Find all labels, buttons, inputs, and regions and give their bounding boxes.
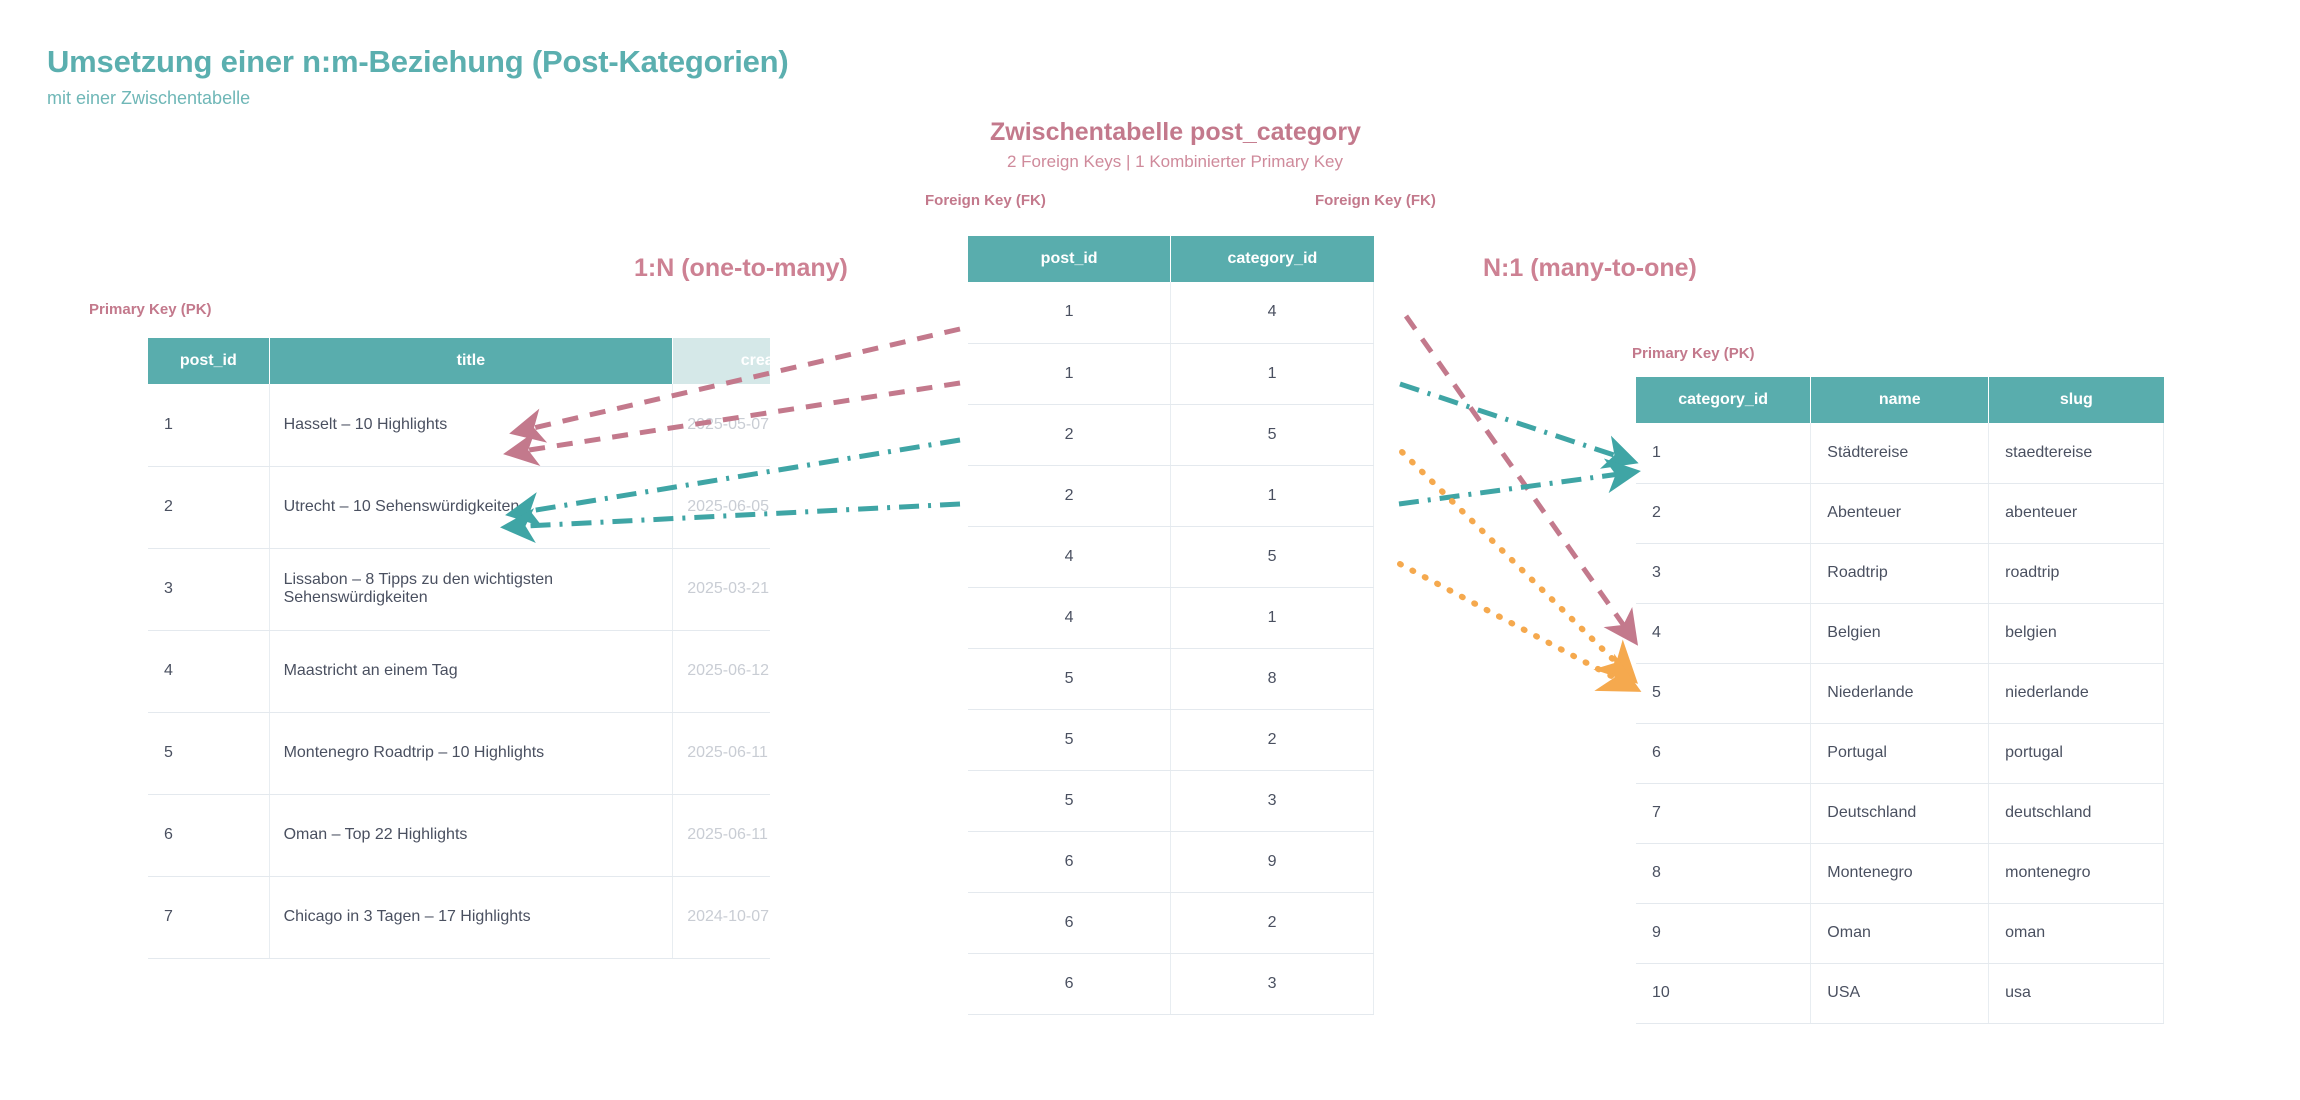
cell-title: Chicago in 3 Tagen – 17 Highlights bbox=[269, 876, 673, 958]
cell-post-id: 6 bbox=[968, 953, 1171, 1014]
cell-name: Städtereise bbox=[1811, 423, 1989, 483]
cell-category-id: 8 bbox=[1171, 648, 1374, 709]
junction-table-subtitle: 2 Foreign Keys | 1 Kombinierter Primary … bbox=[960, 152, 1390, 172]
table-row: 6Oman – Top 22 Highlights2025-06-11 09:0… bbox=[148, 794, 770, 876]
foreign-key-label-category-id: Foreign Key (FK) bbox=[1315, 192, 1436, 209]
cell-category-id: 1 bbox=[1636, 423, 1811, 483]
table-row: 6Portugalportugal bbox=[1636, 723, 2164, 783]
table-header-row: category_id name slug bbox=[1636, 377, 2164, 423]
cell-created-at: 2025-05-07 10:15:00 bbox=[673, 384, 770, 466]
posts-table: post_id title created_at author_id 1Hass… bbox=[148, 338, 770, 959]
cell-post-id: 1 bbox=[148, 384, 269, 466]
cell-category-id: 10 bbox=[1636, 963, 1811, 1023]
table-row: 8Montenegromontenegro bbox=[1636, 843, 2164, 903]
cell-category-id: 5 bbox=[1171, 526, 1374, 587]
cell-category-id: 9 bbox=[1636, 903, 1811, 963]
cell-slug: usa bbox=[1989, 963, 2164, 1023]
cell-name: Oman bbox=[1811, 903, 1989, 963]
cell-category-id: 8 bbox=[1636, 843, 1811, 903]
cell-category-id: 4 bbox=[1171, 282, 1374, 343]
cell-title: Lissabon – 8 Tipps zu den wichtigsten Se… bbox=[269, 548, 673, 630]
cell-category-id: 3 bbox=[1171, 953, 1374, 1014]
table-row: 53 bbox=[968, 770, 1374, 831]
cell-category-id: 9 bbox=[1171, 831, 1374, 892]
table-row: 5Niederlandeniederlande bbox=[1636, 663, 2164, 723]
table-row: 45 bbox=[968, 526, 1374, 587]
cell-slug: montenegro bbox=[1989, 843, 2164, 903]
cell-post-id: 4 bbox=[968, 526, 1171, 587]
table-row: 2Utrecht – 10 Sehenswürdigkeiten2025-06-… bbox=[148, 466, 770, 548]
cell-slug: belgien bbox=[1989, 603, 2164, 663]
table-row: 1Städtereisestaedtereise bbox=[1636, 423, 2164, 483]
cell-category-id: 5 bbox=[1171, 404, 1374, 465]
cell-name: Deutschland bbox=[1811, 783, 1989, 843]
cell-category-id: 5 bbox=[1636, 663, 1811, 723]
cell-category-id: 3 bbox=[1636, 543, 1811, 603]
cell-title: Hasselt – 10 Highlights bbox=[269, 384, 673, 466]
cell-post-id: 5 bbox=[968, 648, 1171, 709]
cell-post-id: 2 bbox=[968, 465, 1171, 526]
relationship-arrow-cats-5-b bbox=[1400, 564, 1634, 688]
table-row: 69 bbox=[968, 831, 1374, 892]
column-header-created-at: created_at bbox=[673, 338, 770, 384]
cell-created-at: 2024-10-07 07:50:00 bbox=[673, 876, 770, 958]
cell-name: Belgien bbox=[1811, 603, 1989, 663]
table-row: 41 bbox=[968, 587, 1374, 648]
table-row: 63 bbox=[968, 953, 1374, 1014]
junction-table-title: Zwischentabelle post_category bbox=[990, 118, 1360, 147]
cell-post-id: 4 bbox=[148, 630, 269, 712]
relationship-label-one-to-many: 1:N (one-to-many) bbox=[634, 254, 848, 283]
cell-post-id: 1 bbox=[968, 343, 1171, 404]
cell-post-id: 1 bbox=[968, 282, 1171, 343]
relationship-arrow-cats-1-a bbox=[1400, 384, 1632, 461]
table-row: 21 bbox=[968, 465, 1374, 526]
table-row: 7Chicago in 3 Tagen – 17 Highlights2024-… bbox=[148, 876, 770, 958]
cell-slug: staedtereise bbox=[1989, 423, 2164, 483]
cell-title: Maastricht an einem Tag bbox=[269, 630, 673, 712]
cell-created-at: 2025-06-12 11:05:00 bbox=[673, 630, 770, 712]
table-row: 3Roadtriproadtrip bbox=[1636, 543, 2164, 603]
cell-post-id: 6 bbox=[148, 794, 269, 876]
table-row: 11 bbox=[968, 343, 1374, 404]
table-row: 58 bbox=[968, 648, 1374, 709]
table-row: 9Omanoman bbox=[1636, 903, 2164, 963]
diagram-canvas: Umsetzung einer n:m-Beziehung (Post-Kate… bbox=[0, 0, 2300, 1100]
table-row: 1Hasselt – 10 Highlights2025-05-07 10:15… bbox=[148, 384, 770, 466]
table-header-row: post_id title created_at author_id bbox=[148, 338, 770, 384]
primary-key-label-posts: Primary Key (PK) bbox=[89, 301, 212, 318]
page-title: Umsetzung einer n:m-Beziehung (Post-Kate… bbox=[47, 44, 789, 80]
table-row: 52 bbox=[968, 709, 1374, 770]
column-header-post-id: post_id bbox=[968, 236, 1171, 282]
categories-table: category_id name slug 1Städtereisestaedt… bbox=[1636, 377, 2164, 1024]
cell-created-at: 2025-06-11 09:00:00 bbox=[673, 794, 770, 876]
cell-category-id: 1 bbox=[1171, 465, 1374, 526]
cell-slug: roadtrip bbox=[1989, 543, 2164, 603]
table-header-row: post_id category_id bbox=[968, 236, 1374, 282]
column-header-post-id: post_id bbox=[148, 338, 269, 384]
cell-category-id: 7 bbox=[1636, 783, 1811, 843]
cell-name: Montenegro bbox=[1811, 843, 1989, 903]
cell-category-id: 1 bbox=[1171, 343, 1374, 404]
cell-name: USA bbox=[1811, 963, 1989, 1023]
cell-slug: oman bbox=[1989, 903, 2164, 963]
column-header-category-id: category_id bbox=[1636, 377, 1811, 423]
post-category-junction-table: post_id category_id 14112521454158525369… bbox=[968, 236, 1374, 1015]
primary-key-label-categories: Primary Key (PK) bbox=[1632, 345, 1755, 362]
cell-post-id: 4 bbox=[968, 587, 1171, 648]
cell-slug: deutschland bbox=[1989, 783, 2164, 843]
cell-title: Oman – Top 22 Highlights bbox=[269, 794, 673, 876]
relationship-arrow-cats-1-b bbox=[1399, 472, 1634, 504]
cell-post-id: 5 bbox=[148, 712, 269, 794]
relationship-arrow-cats-5-a bbox=[1402, 452, 1632, 678]
column-header-category-id: category_id bbox=[1171, 236, 1374, 282]
cell-category-id: 2 bbox=[1171, 892, 1374, 953]
cell-post-id: 6 bbox=[968, 892, 1171, 953]
cell-created-at: 2025-06-05 09:30:00 bbox=[673, 466, 770, 548]
cell-post-id: 2 bbox=[148, 466, 269, 548]
cell-post-id: 2 bbox=[968, 404, 1171, 465]
cell-created-at: 2025-03-21 08:40:00 bbox=[673, 548, 770, 630]
table-row: 4Belgienbelgien bbox=[1636, 603, 2164, 663]
cell-category-id: 1 bbox=[1171, 587, 1374, 648]
table-row: 62 bbox=[968, 892, 1374, 953]
relationship-label-many-to-one: N:1 (many-to-one) bbox=[1483, 254, 1697, 283]
cell-post-id: 5 bbox=[968, 709, 1171, 770]
table-row: 4Maastricht an einem Tag2025-06-12 11:05… bbox=[148, 630, 770, 712]
cell-category-id: 6 bbox=[1636, 723, 1811, 783]
table-row: 5Montenegro Roadtrip – 10 Highlights2025… bbox=[148, 712, 770, 794]
foreign-key-label-post-id: Foreign Key (FK) bbox=[925, 192, 1046, 209]
cell-slug: portugal bbox=[1989, 723, 2164, 783]
cell-name: Abenteuer bbox=[1811, 483, 1989, 543]
table-row: 10USAusa bbox=[1636, 963, 2164, 1023]
table-row: 2Abenteuerabenteuer bbox=[1636, 483, 2164, 543]
cell-created-at: 2025-06-11 14:22:00 bbox=[673, 712, 770, 794]
cell-category-id: 2 bbox=[1636, 483, 1811, 543]
cell-name: Portugal bbox=[1811, 723, 1989, 783]
table-row: 14 bbox=[968, 282, 1374, 343]
column-header-name: name bbox=[1811, 377, 1989, 423]
cell-category-id: 3 bbox=[1171, 770, 1374, 831]
cell-post-id: 5 bbox=[968, 770, 1171, 831]
page-subtitle: mit einer Zwischentabelle bbox=[47, 88, 250, 109]
cell-category-id: 4 bbox=[1636, 603, 1811, 663]
cell-title: Montenegro Roadtrip – 10 Highlights bbox=[269, 712, 673, 794]
table-row: 3Lissabon – 8 Tipps zu den wichtigsten S… bbox=[148, 548, 770, 630]
cell-name: Roadtrip bbox=[1811, 543, 1989, 603]
cell-title: Utrecht – 10 Sehenswürdigkeiten bbox=[269, 466, 673, 548]
cell-post-id: 3 bbox=[148, 548, 269, 630]
relationship-arrow-cats-4 bbox=[1406, 316, 1634, 640]
column-header-title: title bbox=[269, 338, 673, 384]
cell-post-id: 7 bbox=[148, 876, 269, 958]
cell-category-id: 2 bbox=[1171, 709, 1374, 770]
cell-post-id: 6 bbox=[968, 831, 1171, 892]
cell-name: Niederlande bbox=[1811, 663, 1989, 723]
table-row: 25 bbox=[968, 404, 1374, 465]
posts-table-container: post_id title created_at author_id 1Hass… bbox=[148, 338, 770, 988]
table-row: 7Deutschlanddeutschland bbox=[1636, 783, 2164, 843]
cell-slug: abenteuer bbox=[1989, 483, 2164, 543]
cell-slug: niederlande bbox=[1989, 663, 2164, 723]
column-header-slug: slug bbox=[1989, 377, 2164, 423]
